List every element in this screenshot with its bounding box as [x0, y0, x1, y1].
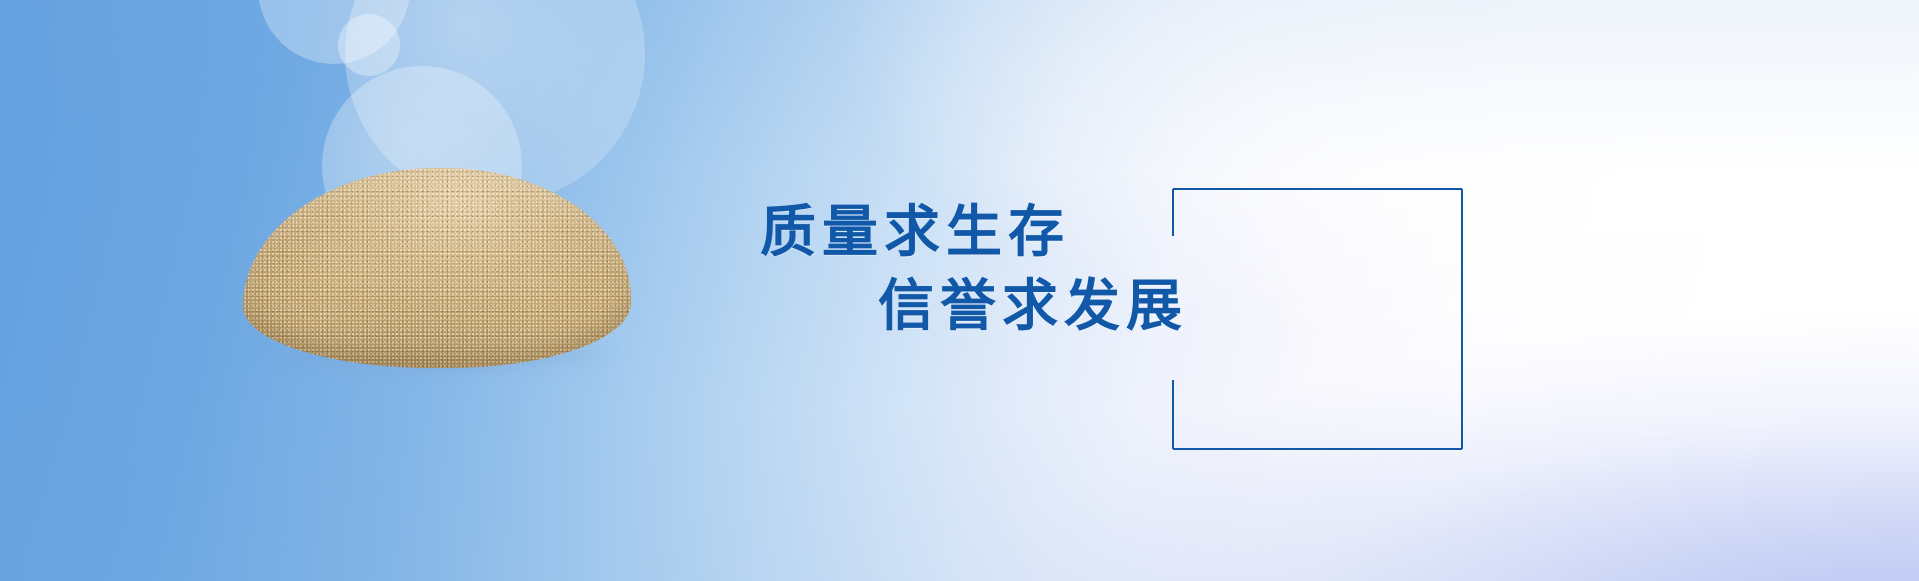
- promo-banner: 质量求生存 信誉求发展: [0, 0, 1919, 581]
- sand-pile-shading: [243, 168, 631, 368]
- headline-block: 质量求生存 信誉求发展: [760, 196, 1460, 344]
- headline-line-2: 信誉求发展: [760, 270, 1460, 344]
- headline-line-1: 质量求生存: [760, 196, 1460, 270]
- product-image-sand-pile: [243, 168, 631, 368]
